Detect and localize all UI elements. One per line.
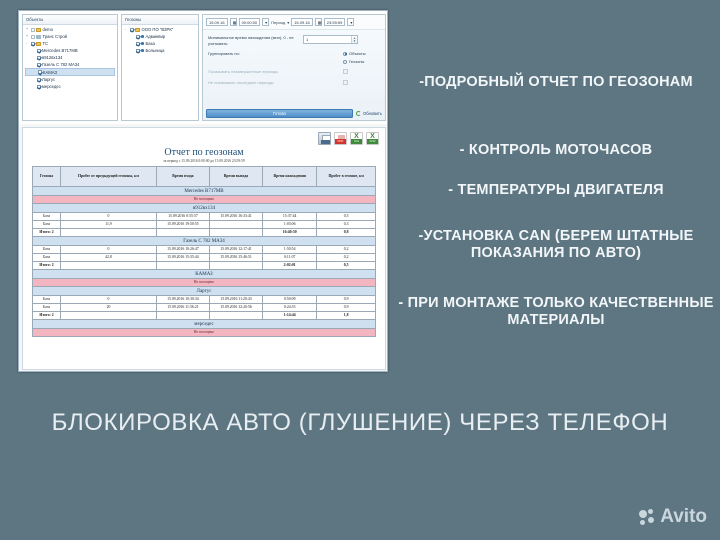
column-header: Пробег от предыдущей геозоны, км [61, 167, 157, 187]
option-label: Показывать незавершенные периоды [208, 69, 303, 75]
disabled-option-row: Не показывать последние периоды [208, 80, 380, 86]
avito-label: Avito [660, 506, 707, 528]
geozones-tree[interactable]: -ООО ПО "ВЗРК"АдминвирБазаБольница [122, 25, 198, 55]
object-label: Газель С 782 МА34 [42, 61, 79, 68]
feature-line-4: -УСТАНОВКА CAN (БЕРЕМ ШТАТНЫЕ ПОКАЗАНИЯ … [396, 228, 716, 262]
table-cell: База [33, 246, 61, 254]
xlsx-export-icon[interactable] [366, 132, 379, 145]
headline-text: БЛОКИРОВКА АВТО (ГЛУШЕНИЕ) ЧЕРЕЗ ТЕЛЕФОН [40, 406, 680, 440]
geozone-label: Больница [146, 47, 165, 54]
checkbox [343, 69, 348, 74]
table-cell: 11,9 [61, 221, 157, 229]
time-from-input[interactable]: 00:00:00 [239, 18, 261, 26]
table-cell: 0 [61, 246, 157, 254]
folder-icon [36, 42, 41, 46]
group-by-radio[interactable]: Геозоны [343, 59, 366, 64]
refresh-button[interactable]: Обновить [356, 111, 382, 116]
apply-button[interactable]: Готово [206, 109, 353, 118]
table-cell: 20 [61, 304, 157, 312]
min-stay-option[interactable]: Минимальное время нахождения (мин), 0 - … [208, 35, 380, 46]
avito-watermark: Avito [639, 506, 707, 528]
total-cell: 16:40:50 [263, 229, 317, 237]
object-item[interactable]: Mercedes B717MB [25, 47, 115, 54]
table-cell: 0,2 [317, 254, 376, 262]
chevron-down-icon-to[interactable]: ▾ [347, 18, 354, 26]
table-cell: 0:50:09 [263, 296, 317, 304]
calendar-icon-from[interactable]: ▦ [230, 18, 237, 26]
group-name: Газель С 782 МА34 [33, 237, 376, 246]
table-cell: 15:37:44 [263, 213, 317, 221]
object-label: ТС [43, 40, 49, 47]
group-header-row: Mercedes B717MB [33, 187, 376, 196]
table-cell: 0,9 [317, 304, 376, 312]
checkbox[interactable] [136, 42, 140, 46]
group-name: Mercedes B717MB [33, 187, 376, 196]
table-cell [209, 221, 262, 229]
objects-tree[interactable]: +demo+Транс Строй-ТСMercedes B717MBв912в… [23, 25, 117, 91]
total-cell [156, 262, 209, 270]
table-cell: 15.09.2016 19:50:55 [156, 221, 209, 229]
geozone-item[interactable]: База [124, 40, 196, 47]
feature-line-5: - ПРИ МОНТАЖЕ ТОЛЬКО КАЧЕСТВЕННЫЕ МАТЕРИ… [396, 295, 716, 329]
zone-icon [141, 49, 144, 52]
folder-icon [36, 28, 41, 32]
table-cell: 15.09.2016 12:17:41 [209, 246, 262, 254]
feature-line-2: - КОНТРОЛЬ МОТОЧАСОВ [398, 142, 714, 159]
table-cell: 0,2 [317, 246, 376, 254]
zone-icon [141, 35, 144, 38]
total-cell [209, 262, 262, 270]
min-stay-input[interactable]: 1 ▲▼ [303, 35, 358, 44]
report-table: ГеозонаПробег от предыдущей геозоны, кмВ… [32, 166, 376, 337]
table-cell: 0:11:07 [263, 254, 317, 262]
group-header-row: Ларгус [33, 287, 376, 296]
geozone-item[interactable]: Больница [124, 47, 196, 54]
table-row: База11,915.09.2016 19:50:551:03:060,3 [33, 221, 376, 229]
expander-icon[interactable]: - [26, 40, 29, 47]
table-cell: База [33, 213, 61, 221]
date-to-input[interactable]: 15.09.16 [291, 18, 313, 26]
zone-icon [141, 42, 144, 45]
no-data-row: Не посещено [33, 329, 376, 337]
date-from-input[interactable]: 15.09.16 [206, 18, 228, 26]
total-cell [156, 229, 209, 237]
xls-export-icon[interactable] [350, 132, 363, 145]
checkbox[interactable] [37, 85, 41, 89]
table-row: База015.09.2016 10:30:3415.09.2016 11:20… [33, 296, 376, 304]
geozone-item[interactable]: Админвир [124, 33, 196, 40]
table-cell: 0 [61, 213, 157, 221]
object-label: Mercedes B717MB [42, 47, 78, 54]
checkbox[interactable] [37, 56, 41, 60]
radio-icon[interactable] [343, 52, 347, 56]
checkbox [343, 80, 348, 85]
table-row: База015.09.2016 10:26:4715.09.2016 12:17… [33, 246, 376, 254]
object-item[interactable]: +Транс Строй [25, 33, 115, 40]
total-cell: Итого: 2 [33, 262, 61, 270]
table-row: База015.09.2016 0:55:5715.09.2016 16:33:… [33, 213, 376, 221]
geozone-label: База [146, 40, 155, 47]
table-cell: 0,3 [317, 221, 376, 229]
print-icon[interactable] [318, 132, 331, 145]
checkbox[interactable] [38, 70, 42, 74]
date-range-row[interactable]: 15.09.16 ▦ 00:00:00 ▾ Период ▾ 15.09.16 … [203, 15, 385, 30]
geozone-item[interactable]: -ООО ПО "ВЗРК" [124, 26, 196, 33]
table-cell: 0,5 [317, 213, 376, 221]
group-name: в912вх134 [33, 204, 376, 213]
group-name: мерседес [33, 320, 376, 329]
period-label: Период [271, 20, 285, 25]
feature-line-1: -ПОДРОБНЫЙ ОТЧЕТ ПО ГЕОЗОНАМ [398, 74, 714, 91]
table-cell: 15.09.2016 16:33:41 [209, 213, 262, 221]
radio-icon[interactable] [343, 60, 347, 64]
column-header: Время нахождения [263, 167, 317, 187]
radio-label: Геозоны [349, 59, 364, 64]
objects-panel-header: Объекты [23, 15, 117, 25]
expander-icon[interactable]: + [26, 33, 29, 40]
object-item[interactable]: Газель С 782 МА34 [25, 61, 115, 68]
object-label: Транс Строй [43, 33, 68, 40]
table-cell: 15.09.2016 15:46:51 [209, 254, 262, 262]
total-cell [209, 312, 262, 320]
table-cell: База [33, 254, 61, 262]
total-cell [61, 229, 157, 237]
object-item[interactable]: в912вх134 [25, 54, 115, 61]
total-cell [61, 262, 157, 270]
folder-icon [135, 28, 140, 32]
checkbox[interactable] [31, 28, 35, 32]
object-label: demo [43, 26, 53, 33]
group-by-radio[interactable]: Объекты [343, 51, 366, 56]
geozone-label: ООО ПО "ВЗРК" [142, 26, 174, 33]
table-cell: 15.09.2016 11:20:43 [209, 296, 262, 304]
geozones-panel[interactable]: Геозоны -ООО ПО "ВЗРК"АдминвирБазаБольни… [121, 14, 199, 121]
no-data-label: Не посещено [33, 196, 376, 204]
geozone-label: Админвир [146, 33, 166, 40]
object-label: мерседес [42, 83, 61, 90]
report-view: Отчет по геозонам за период с 15.09.2016… [22, 127, 386, 370]
group-name: КАМАЗ [33, 270, 376, 279]
no-data-label: Не посещено [33, 279, 376, 287]
period-chevron-icon[interactable]: ▾ [287, 20, 289, 25]
no-data-row: Не посещено [33, 279, 376, 287]
table-cell: База [33, 221, 61, 229]
checkbox[interactable] [37, 49, 41, 53]
total-row: Итого: 216:40:500,8 [33, 229, 376, 237]
group-header-row: Газель С 782 МА34 [33, 237, 376, 246]
object-label: в912вх134 [42, 54, 63, 61]
no-data-label: Не посещено [33, 329, 376, 337]
table-cell: База [33, 296, 61, 304]
time-to-input[interactable]: 23:59:59 [324, 18, 346, 26]
total-cell [209, 229, 262, 237]
table-cell: 42,8 [61, 254, 157, 262]
object-item[interactable]: мерседес [25, 83, 115, 90]
group-by-radios[interactable]: ОбъектыГеозоны [343, 51, 366, 64]
checkbox[interactable] [31, 35, 35, 39]
geozones-panel-header: Геозоны [122, 15, 198, 25]
report-config-bar: Объекты +demo+Транс Строй-ТСMercedes B71… [19, 11, 388, 124]
table-cell: 15.09.2016 10:30:34 [156, 296, 209, 304]
min-stay-value: 1 [306, 37, 308, 42]
avito-logo-icon [639, 509, 656, 526]
group-by-label: Группировать по: [208, 51, 303, 57]
total-cell: Итого: 2 [33, 229, 61, 237]
min-stay-label: Минимальное время нахождения (мин), 0 - … [208, 35, 303, 46]
column-header: Геозона [33, 167, 61, 187]
checkbox[interactable] [37, 63, 41, 67]
checkbox[interactable] [37, 78, 41, 82]
table-cell: 1:50:54 [263, 246, 317, 254]
object-item[interactable]: -ТС [25, 40, 115, 47]
total-row: Итого: 21:14:441,8 [33, 312, 376, 320]
total-cell: 1:14:44 [263, 312, 317, 320]
object-item[interactable]: Ларгус [25, 76, 115, 83]
total-cell [61, 312, 157, 320]
table-row: База42,815.09.2016 15:35:4415.09.2016 15… [33, 254, 376, 262]
total-cell: 2:02:01 [263, 262, 317, 270]
table-cell: 0 [61, 296, 157, 304]
group-header-row: мерседес [33, 320, 376, 329]
disabled-option-row: Показывать незавершенные периоды [208, 69, 380, 75]
truck-icon [36, 35, 41, 39]
group-by-option[interactable]: Группировать по: ОбъектыГеозоны [208, 51, 380, 64]
table-header-row: ГеозонаПробег от предыдущей геозоны, кмВ… [33, 167, 376, 187]
table-body: Mercedes B717MBНе посещенов912вх134База0… [33, 187, 376, 337]
column-header: Время выхода [209, 167, 262, 187]
report-export-toolbar[interactable] [23, 128, 385, 145]
total-cell: Итого: 2 [33, 312, 61, 320]
application-screenshot: Объекты +demo+Транс Строй-ТСMercedes B71… [18, 10, 388, 372]
table-row: База2015.09.2016 11:56:2115.09.2016 12:2… [33, 304, 376, 312]
total-cell: 1,8 [317, 312, 376, 320]
table-cell: 0,9 [317, 296, 376, 304]
options-button-bar: Готово Обновить [203, 107, 385, 120]
pdf-export-icon[interactable] [334, 132, 347, 145]
group-name: Ларгус [33, 287, 376, 296]
group-header-row: в912вх134 [33, 204, 376, 213]
column-header: Пробег в геозоне, км [317, 167, 376, 187]
report-title: Отчет по геозонам [23, 147, 385, 158]
expander-icon[interactable]: - [125, 26, 128, 33]
group-header-row: КАМАЗ [33, 270, 376, 279]
object-item[interactable]: +demo [25, 26, 115, 33]
table-cell: 15.09.2016 15:35:44 [156, 254, 209, 262]
object-label: Ларгус [42, 76, 55, 83]
objects-panel[interactable]: Объекты +demo+Транс Строй-ТСMercedes B71… [22, 14, 118, 121]
column-header: Время входа [156, 167, 209, 187]
refresh-label: Обновить [363, 111, 382, 116]
no-data-row: Не посещено [33, 196, 376, 204]
spinner-arrows-icon[interactable]: ▲▼ [351, 36, 357, 43]
object-label: КАМАЗ [43, 69, 57, 76]
refresh-icon [356, 111, 361, 116]
table-cell: 15.09.2016 0:55:57 [156, 213, 209, 221]
feature-line-3: - ТЕМПЕРАТУРЫ ДВИГАТЕЛЯ [398, 182, 714, 199]
radio-label: Объекты [349, 51, 366, 56]
total-row: Итого: 22:02:010,5 [33, 262, 376, 270]
object-item[interactable]: КАМАЗ [25, 68, 115, 76]
report-options-panel[interactable]: 15.09.16 ▦ 00:00:00 ▾ Период ▾ 15.09.16 … [202, 14, 386, 121]
checkbox[interactable] [130, 28, 134, 32]
calendar-icon-to[interactable]: ▦ [315, 18, 322, 26]
table-cell: 15.09.2016 12:20:56 [209, 304, 262, 312]
table-cell: 1:03:06 [263, 221, 317, 229]
checkbox[interactable] [31, 42, 35, 46]
chevron-down-icon-from[interactable]: ▾ [262, 18, 269, 26]
option-label: Не показывать последние периоды [208, 80, 303, 86]
total-cell: 0,8 [317, 229, 376, 237]
report-subtitle: за период с 15.09.2016 0:00:00 до 15.09.… [23, 159, 385, 163]
disabled-options: Показывать незавершенные периодыНе показ… [208, 69, 380, 85]
table-cell: 15.09.2016 10:26:47 [156, 246, 209, 254]
total-cell [156, 312, 209, 320]
table-cell: 0:24:35 [263, 304, 317, 312]
expander-icon[interactable]: + [26, 26, 29, 33]
checkbox[interactable] [136, 49, 140, 53]
table-cell: База [33, 304, 61, 312]
checkbox[interactable] [136, 35, 140, 39]
table-cell: 15.09.2016 11:56:21 [156, 304, 209, 312]
total-cell: 0,5 [317, 262, 376, 270]
